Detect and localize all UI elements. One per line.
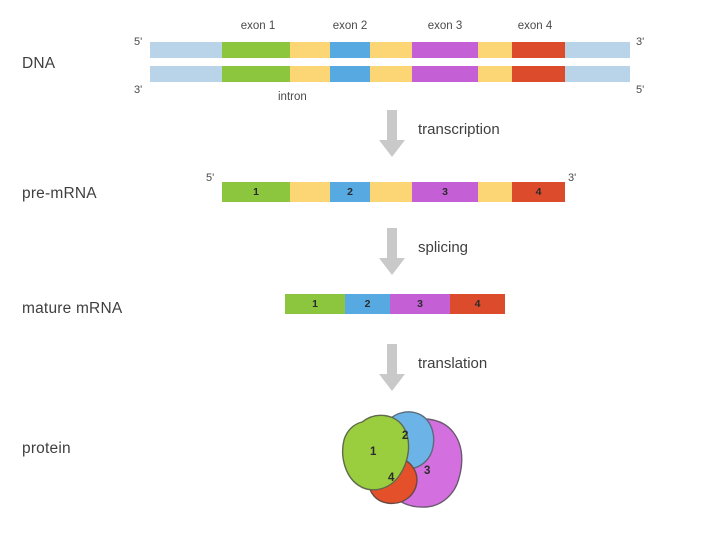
pre-mrna-right-end: 3': [568, 172, 576, 184]
protein-lobe-3-label: 3: [424, 465, 430, 477]
intron-label: intron: [278, 91, 307, 103]
pre-mrna-segment-intron-2: [370, 182, 412, 202]
mature-mrna-segment-exon-3: 3: [390, 294, 450, 314]
dna-bottom-segment-exon-1: [222, 66, 290, 82]
dna-bottom-segment-utr-right: [565, 66, 630, 82]
pre-mrna-segment-exon-4: 4: [512, 182, 565, 202]
mature-mrna-segment-exon-2-label: 2: [365, 299, 371, 310]
pre-mrna-left-end: 5': [206, 172, 214, 184]
exon-label-1: exon 1: [224, 20, 292, 32]
dna-bottom-segment-exon-4: [512, 66, 565, 82]
pre-mrna-segment-exon-1-label: 1: [253, 187, 259, 198]
mature-mrna-strand: 1234: [285, 294, 505, 314]
dna-top-segment-exon-1: [222, 42, 290, 58]
dna-bottom-segment-exon-2: [330, 66, 370, 82]
pre-mrna-segment-intron-3: [478, 182, 512, 202]
dna-top-segment-intron-1: [290, 42, 330, 58]
mature-mrna-segment-exon-2: 2: [345, 294, 390, 314]
dna-top-right-end: 3': [636, 36, 644, 48]
dna-bottom-segment-intron-2: [370, 66, 412, 82]
protein-structure: 1 2 3 4: [332, 404, 472, 519]
pre-mrna-segment-intron-1: [290, 182, 330, 202]
dna-strand-top: [150, 42, 630, 58]
row-label-mature-mrna: mature mRNA: [22, 300, 122, 318]
dna-top-segment-intron-2: [370, 42, 412, 58]
mature-mrna-segment-exon-4-label: 4: [475, 299, 481, 310]
pre-mrna-segment-exon-4-label: 4: [536, 187, 542, 198]
dna-bottom-segment-exon-3: [412, 66, 478, 82]
dna-top-segment-exon-3: [412, 42, 478, 58]
dna-bottom-right-end: 5': [636, 84, 644, 96]
pre-mrna-segment-exon-3-label: 3: [442, 187, 448, 198]
step-label-translation: translation: [418, 355, 487, 372]
row-label-protein: protein: [22, 440, 71, 458]
translation-arrow: [378, 344, 406, 397]
dna-top-segment-intron-3: [478, 42, 512, 58]
mature-mrna-segment-exon-1: 1: [285, 294, 345, 314]
exon-label-2: exon 2: [316, 20, 384, 32]
dna-bottom-left-end: 3': [134, 84, 142, 96]
dna-bottom-segment-intron-3: [478, 66, 512, 82]
dna-top-segment-exon-2: [330, 42, 370, 58]
mature-mrna-segment-exon-1-label: 1: [312, 299, 318, 310]
pre-mrna-strand: 1234: [222, 182, 565, 202]
mature-mrna-segment-exon-4: 4: [450, 294, 505, 314]
diagram-canvas: DNA pre-mRNA mature mRNA protein exon 1 …: [0, 0, 720, 533]
step-label-transcription: transcription: [418, 121, 500, 138]
splicing-arrow: [378, 228, 406, 281]
dna-bottom-segment-utr-left: [150, 66, 222, 82]
dna-top-segment-utr-right: [565, 42, 630, 58]
protein-lobe-4-label: 4: [388, 472, 394, 484]
pre-mrna-segment-exon-1: 1: [222, 182, 290, 202]
mature-mrna-segment-exon-3-label: 3: [417, 299, 423, 310]
exon-label-3: exon 3: [411, 20, 479, 32]
row-label-pre-mrna: pre-mRNA: [22, 185, 97, 203]
dna-strand-bottom: [150, 66, 630, 82]
row-label-dna: DNA: [22, 55, 55, 73]
dna-top-segment-exon-4: [512, 42, 565, 58]
dna-top-segment-utr-left: [150, 42, 222, 58]
pre-mrna-segment-exon-2-label: 2: [347, 187, 353, 198]
protein-lobe-1-label: 1: [370, 446, 376, 458]
transcription-arrow: [378, 110, 406, 163]
pre-mrna-segment-exon-3: 3: [412, 182, 478, 202]
step-label-splicing: splicing: [418, 239, 468, 256]
pre-mrna-segment-exon-2: 2: [330, 182, 370, 202]
dna-top-left-end: 5': [134, 36, 142, 48]
exon-label-4: exon 4: [501, 20, 569, 32]
protein-lobe-2-label: 2: [402, 430, 408, 442]
dna-bottom-segment-intron-1: [290, 66, 330, 82]
